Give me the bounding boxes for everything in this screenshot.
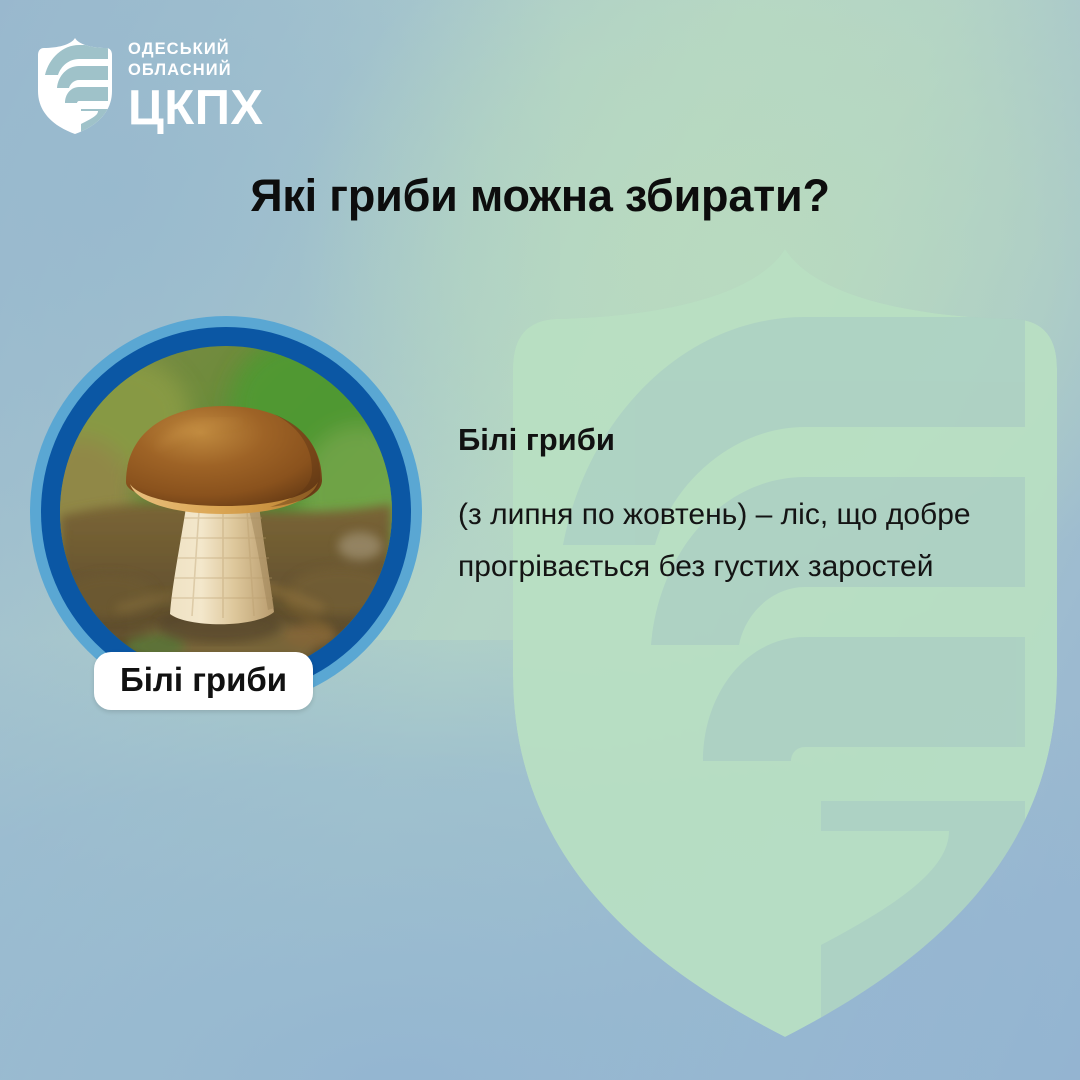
brand-line-1: ОДЕСЬКИЙ — [128, 39, 264, 60]
poster-canvas: ОДЕСЬКИЙ ОБЛАСНИЙ ЦКПХ Які гриби можна з… — [0, 0, 1080, 1080]
brand-text: ОДЕСЬКИЙ ОБЛАСНИЙ ЦКПХ — [128, 39, 264, 134]
page-title: Які гриби можна збирати? — [0, 170, 1080, 222]
shield-watermark-icon — [505, 245, 1065, 1045]
mushroom-photo — [60, 346, 392, 678]
description-title: Білі гриби — [458, 424, 1054, 455]
description-block: Білі гриби (з липня по жовтень) – ліс, щ… — [458, 424, 1054, 592]
brand-logo: ОДЕСЬКИЙ ОБЛАСНИЙ ЦКПХ — [36, 36, 264, 136]
shield-logo-icon — [36, 36, 114, 136]
photo-badge-label: Білі гриби — [94, 652, 313, 710]
description-body: (з липня по жовтень) – ліс, що добре про… — [458, 489, 1054, 592]
mushroom-photo-circle — [30, 316, 422, 708]
brand-acronym: ЦКПХ — [128, 84, 264, 133]
brand-line-2: ОБЛАСНИЙ — [128, 60, 264, 81]
